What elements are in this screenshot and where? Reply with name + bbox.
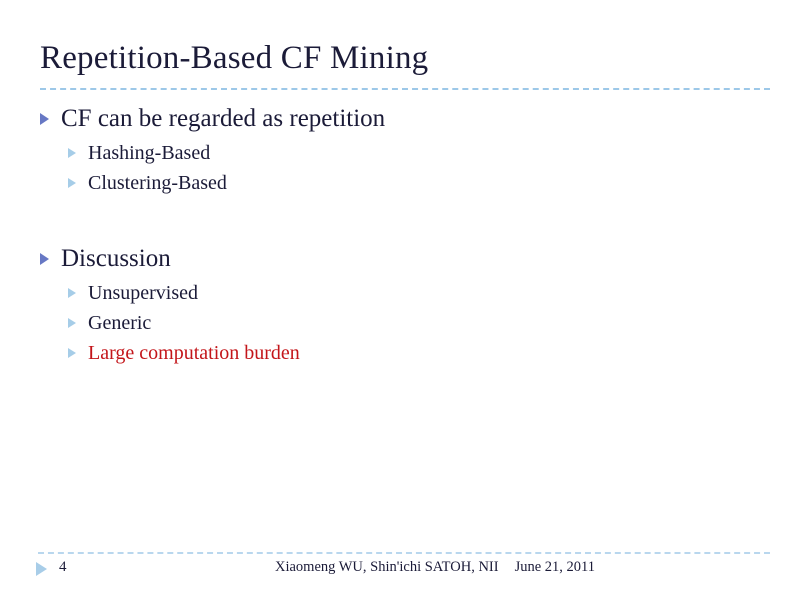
list-item-label: Discussion <box>61 244 171 274</box>
footer-text: Xiaomeng WU, Shin'ichi SATOH, NIIJune 21… <box>0 559 800 576</box>
list-item-label: Unsupervised <box>88 280 198 306</box>
list-item[interactable]: Hashing-Based <box>0 140 800 166</box>
list-item[interactable]: Discussion <box>0 244 800 274</box>
list-item[interactable]: Clustering-Based <box>0 170 800 196</box>
bullet-triangle-icon <box>68 178 76 188</box>
bullet-triangle-icon <box>68 318 76 328</box>
list-item-highlighted[interactable]: Large computation burden <box>0 340 800 366</box>
section-spacer <box>0 200 800 244</box>
presentation-slide: Repetition-Based CF Mining CF can be reg… <box>0 0 800 599</box>
list-item-label: Large computation burden <box>88 340 300 366</box>
footer-authors: Xiaomeng WU, Shin'ichi SATOH, NII <box>275 559 499 575</box>
list-item[interactable]: CF can be regarded as repetition <box>0 104 800 134</box>
footer-divider <box>38 552 770 554</box>
bullet-triangle-icon <box>40 253 49 265</box>
slide-body: CF can be regarded as repetition Hashing… <box>0 104 800 370</box>
bullet-triangle-icon <box>68 148 76 158</box>
list-item[interactable]: Unsupervised <box>0 280 800 306</box>
bullet-triangle-icon <box>68 348 76 358</box>
list-item-label: Clustering-Based <box>88 170 227 196</box>
bullet-triangle-icon <box>68 288 76 298</box>
list-item-label: CF can be regarded as repetition <box>61 104 385 134</box>
list-item[interactable]: Generic <box>0 310 800 336</box>
footer-date: June 21, 2011 <box>515 559 595 575</box>
title-block: Repetition-Based CF Mining <box>40 38 770 78</box>
list-item-label: Hashing-Based <box>88 140 210 166</box>
title-divider <box>40 88 770 90</box>
bullet-triangle-icon <box>40 113 49 125</box>
slide-footer: 4 Xiaomeng WU, Shin'ichi SATOH, NIIJune … <box>0 556 800 584</box>
page-title: Repetition-Based CF Mining <box>40 38 770 78</box>
list-item-label: Generic <box>88 310 151 336</box>
